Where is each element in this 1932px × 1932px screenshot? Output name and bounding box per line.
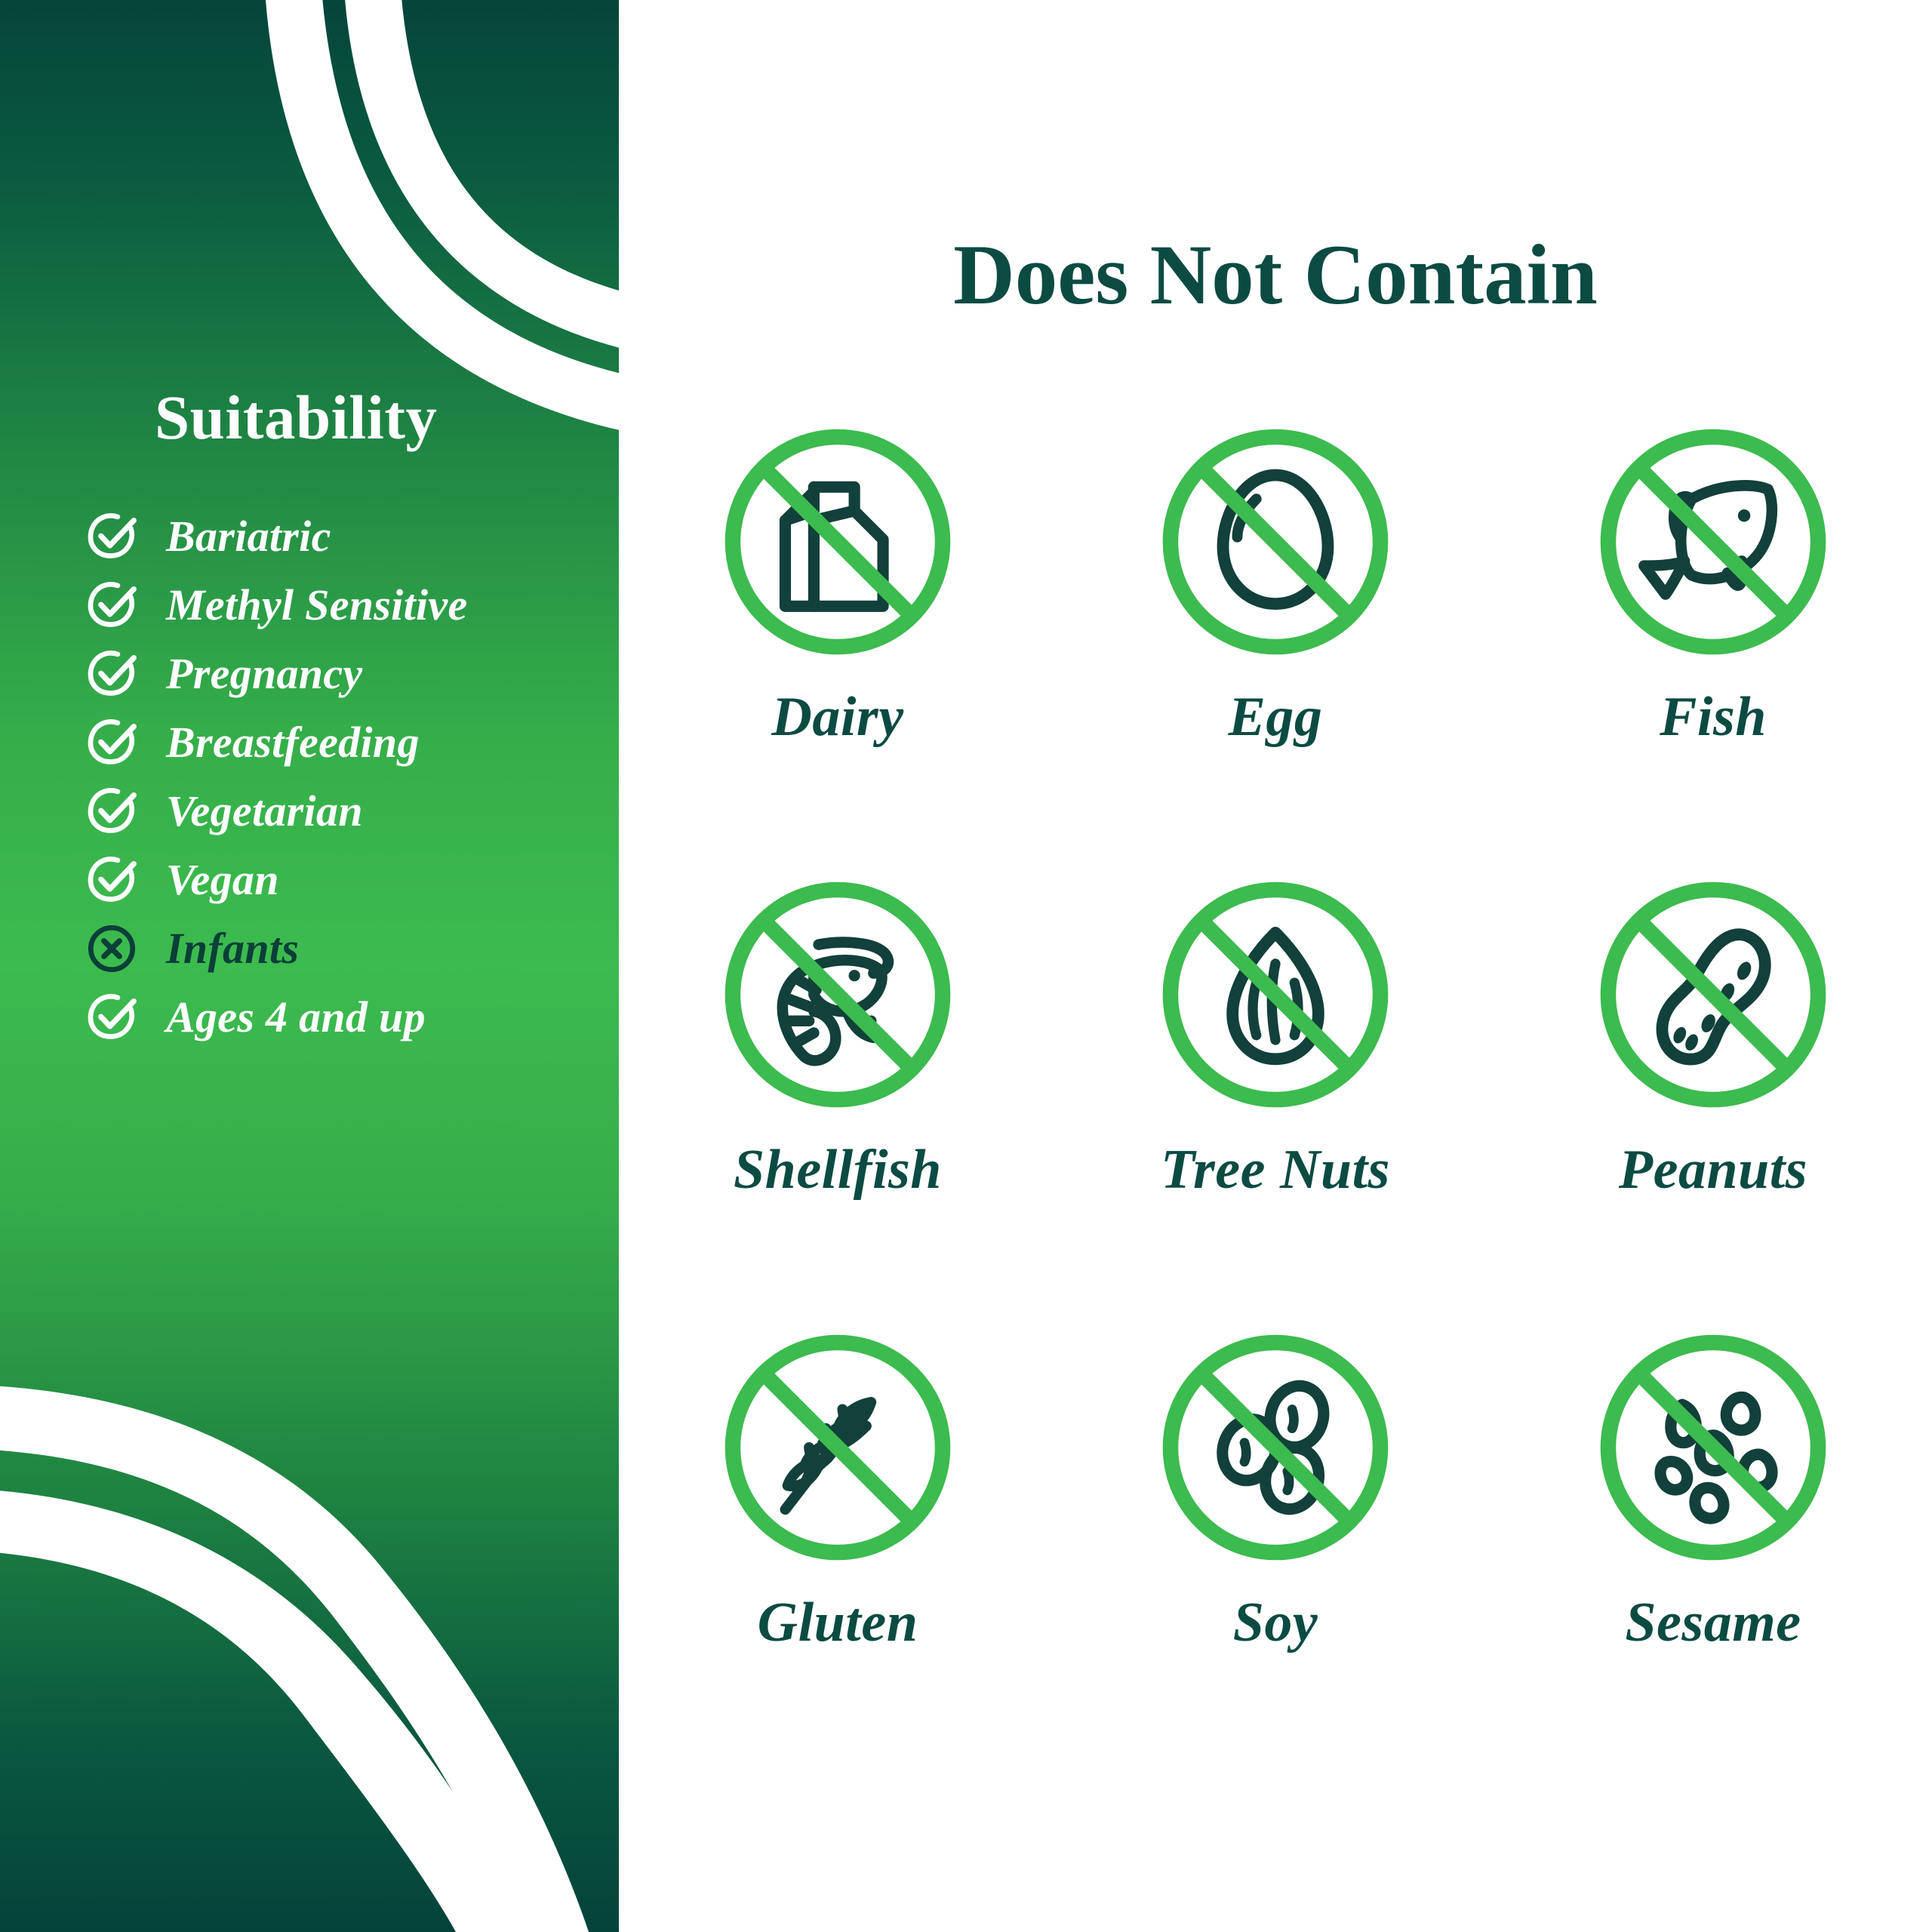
allergen-grid: Dairy Egg xyxy=(619,423,1932,1781)
allergen-label: Egg xyxy=(1229,685,1323,749)
allergen-item-sesame: Sesame xyxy=(1494,1328,1932,1781)
suitability-item-label: Ages 4 and up xyxy=(166,992,426,1042)
suitability-item-ages-4-and-up: Ages 4 and up xyxy=(83,983,611,1051)
allergen-item-soy: Soy xyxy=(1057,1328,1494,1781)
allergen-item-tree-nuts: Tree Nuts xyxy=(1057,875,1494,1328)
suitability-item-label: Infants xyxy=(166,923,299,974)
suitability-item-bariatric: Bariatric xyxy=(83,502,611,571)
suitability-panel: Suitability Bariatric Methyl Sensitive xyxy=(0,0,619,1932)
allergen-item-egg: Egg xyxy=(1057,423,1494,875)
allergen-item-fish: Fish xyxy=(1494,423,1932,875)
suitability-item-pregnancy: Pregnancy xyxy=(83,639,611,708)
allergen-label: Peanuts xyxy=(1619,1138,1807,1202)
allergen-row: Dairy Egg xyxy=(619,423,1932,875)
allergen-label: Gluten xyxy=(758,1591,918,1655)
check-circle-icon xyxy=(83,714,140,771)
allergen-label: Fish xyxy=(1660,685,1767,749)
no-fish-icon xyxy=(1594,423,1832,661)
allergen-label: Sesame xyxy=(1625,1591,1801,1655)
no-soybean-icon xyxy=(1156,1328,1395,1567)
no-almond-icon xyxy=(1156,875,1395,1114)
check-circle-icon xyxy=(83,577,140,634)
suitability-item-vegan: Vegan xyxy=(83,845,611,914)
no-milk-carton-icon xyxy=(718,423,957,661)
allergen-row: Gluten Soy xyxy=(619,1328,1932,1781)
x-circle-icon xyxy=(83,920,140,977)
check-circle-icon xyxy=(83,989,140,1046)
allergen-item-gluten: Gluten xyxy=(619,1328,1057,1781)
suitability-item-vegetarian: Vegetarian xyxy=(83,777,611,845)
no-shrimp-icon xyxy=(718,875,957,1114)
allergen-item-peanuts: Peanuts xyxy=(1494,875,1932,1328)
suitability-item-label: Vegan xyxy=(166,854,279,905)
no-wheat-icon xyxy=(718,1328,957,1567)
no-peanut-icon xyxy=(1594,875,1832,1114)
suitability-item-breastfeeding: Breastfeeding xyxy=(83,708,611,777)
suitability-item-infants: Infants xyxy=(83,914,611,983)
allergen-label: Soy xyxy=(1233,1591,1318,1655)
check-circle-icon xyxy=(83,645,140,703)
suitability-heading: Suitability xyxy=(155,381,438,454)
page-title: Does Not Contain xyxy=(619,226,1932,325)
suitability-item-label: Pregnancy xyxy=(166,648,362,699)
allergen-label: Shellfish xyxy=(734,1138,942,1202)
suitability-list: Bariatric Methyl Sensitive Pregnancy xyxy=(83,502,611,1051)
allergen-item-dairy: Dairy xyxy=(619,423,1057,875)
suitability-item-label: Vegetarian xyxy=(166,786,363,836)
suitability-item-label: Bariatric xyxy=(166,511,331,561)
suitability-item-label: Methyl Sensitive xyxy=(166,580,468,630)
no-egg-icon xyxy=(1156,423,1395,661)
does-not-contain-section: Does Not Contain Dairy xyxy=(619,0,1932,1932)
check-circle-icon xyxy=(83,783,140,840)
allergen-row: Shellfish Tree Nuts xyxy=(619,875,1932,1328)
suitability-item-methyl-sensitive: Methyl Sensitive xyxy=(83,571,611,639)
allergen-label: Dairy xyxy=(771,685,903,749)
allergen-item-shellfish: Shellfish xyxy=(619,875,1057,1328)
check-circle-icon xyxy=(83,508,140,565)
suitability-item-label: Breastfeeding xyxy=(166,717,420,768)
no-sesame-seeds-icon xyxy=(1594,1328,1832,1567)
allergen-label: Tree Nuts xyxy=(1161,1138,1390,1202)
check-circle-icon xyxy=(83,851,140,909)
